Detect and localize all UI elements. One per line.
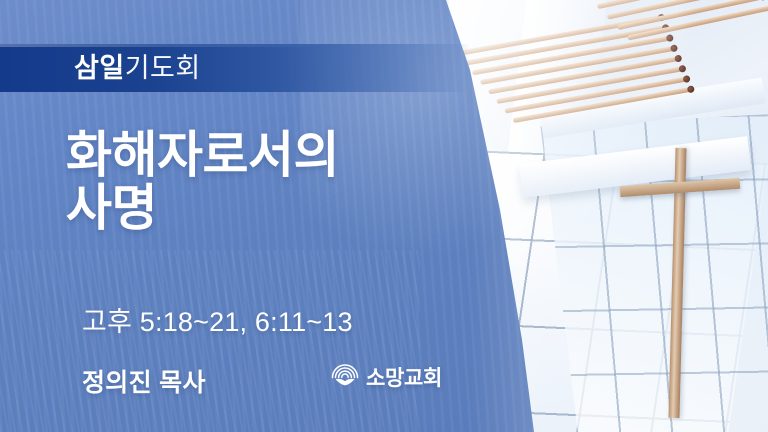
series-banner-label: 삼일기도회 — [74, 55, 201, 82]
sunrise-book-icon — [330, 364, 360, 390]
church-name-label: 소망교회 — [366, 362, 442, 392]
panel-stripe-texture-lower — [0, 250, 420, 432]
sermon-title-line2: 사명 — [66, 182, 466, 235]
series-banner-label-light: 기도회 — [125, 53, 201, 83]
sermon-title: 화해자로서의 사명 — [66, 129, 466, 235]
banner-highlight-line — [0, 44, 470, 47]
sermon-title-line1: 화해자로서의 — [66, 127, 339, 183]
scripture-reference: 고후 5:18~21, 6:11~13 — [82, 300, 353, 339]
sermon-title-card: 삼일기도회 화해자로서의 사명 고후 5:18~21, 6:11~13 정의진 … — [0, 0, 768, 432]
series-banner: 삼일기도회 — [0, 44, 470, 92]
series-banner-label-strong: 삼일 — [74, 53, 125, 83]
speaker-name: 정의진 목사 — [82, 363, 206, 399]
church-logo: 소망교회 — [330, 362, 442, 392]
